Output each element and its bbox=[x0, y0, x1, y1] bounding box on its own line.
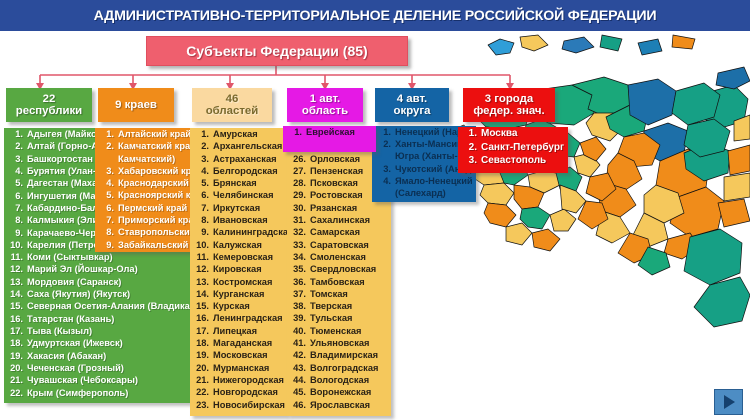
list-item-label: Кемеровская bbox=[213, 251, 273, 263]
category-autonomous-oblast-line2: область bbox=[302, 105, 348, 117]
list-item-label: Краснодарский край bbox=[118, 177, 195, 189]
list-item-label: Чувашская (Чебоксары) bbox=[27, 374, 138, 386]
list-item-label: Калининградская bbox=[213, 226, 287, 238]
list-item-label: Ивановская bbox=[213, 214, 268, 226]
list-item: 23.Новосибирская bbox=[190, 399, 287, 411]
list-item: 20.Чеченская (Грозный) bbox=[4, 362, 190, 374]
list-item-label: Воронежская bbox=[310, 386, 371, 398]
list-item: 45.Воронежская bbox=[287, 386, 391, 398]
list-item-number: 29. bbox=[291, 189, 306, 201]
list-item-number: 6. bbox=[194, 189, 209, 201]
category-autonomous-okrugs-line1: 4 авт. bbox=[397, 93, 427, 105]
list-item-label: Москва bbox=[481, 127, 517, 141]
list-item-label: Мордовия (Саранск) bbox=[27, 276, 121, 288]
list-item-number: 7. bbox=[194, 202, 209, 214]
list-item-label: Приморский край bbox=[118, 214, 195, 226]
list-item-number: 34. bbox=[291, 251, 306, 263]
list-item-number: 14. bbox=[194, 288, 209, 300]
list-item-label: Камчатский) bbox=[118, 153, 175, 165]
list-item-label: Волгоградская bbox=[310, 362, 378, 374]
list-item-number: 1. bbox=[8, 128, 23, 140]
list-item-number: 31. bbox=[291, 214, 306, 226]
list-item: 2.Архангельская bbox=[190, 140, 287, 152]
list-item-label: Удмуртская (Ижевск) bbox=[27, 337, 123, 349]
category-oblasts-line1: 46 bbox=[226, 93, 239, 105]
list-item-label: Хабаровский край bbox=[118, 165, 195, 177]
list-item-label: Новосибирская bbox=[213, 399, 285, 411]
list-item-label: Сахалинская bbox=[310, 214, 370, 226]
list-item-label: Челябинская bbox=[213, 189, 274, 201]
category-krais-line1: 9 краев bbox=[115, 99, 157, 111]
list-item-number: 10. bbox=[8, 239, 23, 251]
list-item: 13.Костромская bbox=[190, 276, 287, 288]
list-item: Камчатский) bbox=[95, 153, 195, 165]
list-item-label: Архангельская bbox=[213, 140, 282, 152]
list-item-label: Адыгея (Майкоп) bbox=[27, 128, 105, 140]
list-item-label: Северная Осетия-Алания (Владикавказ) bbox=[27, 300, 190, 312]
list-item-number: 19. bbox=[8, 350, 23, 362]
list-item-label: Ставропольский край bbox=[118, 226, 195, 238]
list-oblasts-left[interactable]: 1.Амурская2.Архангельская3.Астраханская4… bbox=[190, 128, 287, 416]
list-item: 22.Новгородская bbox=[190, 386, 287, 398]
list-item-label: Вологодская bbox=[310, 374, 369, 386]
category-box-autonomous-oblast[interactable]: 1 авт. область bbox=[287, 88, 363, 122]
list-item: (Салехард) bbox=[372, 187, 476, 199]
list-item-number: 42. bbox=[291, 349, 306, 361]
list-item-number: 45. bbox=[291, 386, 306, 398]
slide-title-bar: АДМИНИСТРАТИВНО-ТЕРРИТОРИАЛЬНОЕ ДЕЛЕНИЕ … bbox=[0, 0, 750, 31]
list-item-label: Белгородская bbox=[213, 165, 278, 177]
list-item-number: 15. bbox=[8, 300, 23, 312]
list-item: 3.Астраханская bbox=[190, 153, 287, 165]
list-item-label: Чеченская (Грозный) bbox=[27, 362, 124, 374]
list-item-label: Камчатский край bbox=[118, 140, 195, 152]
list-item-number: 46. bbox=[291, 399, 306, 411]
list-item-number: 2. bbox=[462, 141, 477, 155]
list-item-label: Пермский край (Пермь) bbox=[118, 202, 195, 214]
list-item-label: Крым (Симферополь) bbox=[27, 387, 128, 399]
next-slide-button[interactable] bbox=[714, 389, 743, 415]
category-autonomous-oblast-line1: 1 авт. bbox=[310, 93, 340, 105]
list-item-number: 32. bbox=[291, 226, 306, 238]
list-item: 18.Магаданская bbox=[190, 337, 287, 349]
list-item: 3.Севастополь bbox=[458, 154, 568, 168]
list-item-number: 41. bbox=[291, 337, 306, 349]
list-item-number: 12. bbox=[194, 263, 209, 275]
list-item-number: 12. bbox=[8, 263, 23, 275]
list-item-number: 1. bbox=[194, 128, 209, 140]
list-item-label: Тверская bbox=[310, 300, 352, 312]
list-item-label: Липецкая bbox=[213, 325, 257, 337]
list-item-number: 11. bbox=[8, 251, 23, 263]
list-item-label: Курская bbox=[213, 300, 250, 312]
list-item: 1.Алтайский край bbox=[95, 128, 195, 140]
list-item-label: Тамбовская bbox=[310, 276, 365, 288]
list-item: 46.Ярославская bbox=[287, 399, 391, 411]
list-item: 36.Тамбовская bbox=[287, 276, 391, 288]
list-item-label: Алтайский край bbox=[118, 128, 191, 140]
category-federal-cities-line2: федер. знач. bbox=[473, 105, 544, 117]
list-item-number: 39. bbox=[291, 312, 306, 324]
list-item-label: Ростовская bbox=[310, 189, 363, 201]
list-item-number: 18. bbox=[8, 337, 23, 349]
list-item-number: 18. bbox=[194, 337, 209, 349]
list-item: 18.Удмуртская (Ижевск) bbox=[4, 337, 190, 349]
list-item-label: Курганская bbox=[213, 288, 264, 300]
list-item-number: 4. bbox=[99, 177, 114, 189]
list-item: 15.Курская bbox=[190, 300, 287, 312]
list-item-label: Санкт-Петербург bbox=[481, 141, 564, 155]
list-item-label: Коми (Сыктывкар) bbox=[27, 251, 113, 263]
list-item-label: Рязанская bbox=[310, 202, 357, 214]
list-item: 7.Иркутская bbox=[190, 202, 287, 214]
list-item: 4.Белгородская bbox=[190, 165, 287, 177]
list-item-number: 13. bbox=[8, 276, 23, 288]
list-item: 9.Забайкальский край bbox=[95, 239, 195, 251]
play-arrow-icon bbox=[724, 395, 735, 409]
list-item-number: 16. bbox=[8, 313, 23, 325]
list-item: 38.Тверская bbox=[287, 300, 391, 312]
list-item-number: 5. bbox=[99, 189, 114, 201]
list-item: 12.Кировская bbox=[190, 263, 287, 275]
list-item-label: Кировская bbox=[213, 263, 262, 275]
root-node-subjects[interactable]: Субъекты Федерации (85) bbox=[146, 36, 408, 66]
list-item-number: 2. bbox=[99, 140, 114, 152]
list-item: 6.Пермский край (Пермь) bbox=[95, 202, 195, 214]
list-item-number: 7. bbox=[8, 202, 23, 214]
list-item: 15.Северная Осетия-Алания (Владикавказ) bbox=[4, 300, 190, 312]
list-item-number: 17. bbox=[8, 325, 23, 337]
category-box-federal-cities[interactable]: 3 города федер. знач. bbox=[463, 88, 555, 122]
list-item-number: 6. bbox=[99, 202, 114, 214]
federal-cities-list: 1.Москва2.Санкт-Петербург3.Севастополь bbox=[458, 127, 568, 168]
list-item: 14.Курганская bbox=[190, 288, 287, 300]
list-item: 33.Саратовская bbox=[287, 239, 391, 251]
list-item: 1.Еврейская bbox=[283, 126, 376, 138]
list-item-number: 43. bbox=[291, 362, 306, 374]
list-item: 42.Владимирская bbox=[287, 349, 391, 361]
list-item: 3.Хабаровский край bbox=[95, 165, 195, 177]
list-item-number: 35. bbox=[291, 263, 306, 275]
list-item: 34.Смоленская bbox=[287, 251, 391, 263]
autonomous-oblast-list: 1.Еврейская bbox=[283, 126, 376, 138]
list-item-label: Саха (Якутия) (Якутск) bbox=[27, 288, 130, 300]
list-item-number: 11. bbox=[194, 251, 209, 263]
list-item-number: 1. bbox=[462, 127, 477, 141]
category-box-autonomous-okrugs[interactable]: 4 авт. округа bbox=[375, 88, 449, 122]
list-item: 20.Мурманская bbox=[190, 362, 287, 374]
list-item-number: 3. bbox=[99, 165, 114, 177]
list-item: 16.Татарстан (Казань) bbox=[4, 313, 190, 325]
list-item-label: Свердловская bbox=[310, 263, 376, 275]
list-item: 1.Москва bbox=[458, 127, 568, 141]
list-item-number: 19. bbox=[194, 349, 209, 361]
list-item-number: 23. bbox=[194, 399, 209, 411]
list-item-number: 38. bbox=[291, 300, 306, 312]
list-item-number: 15. bbox=[194, 300, 209, 312]
list-item-label: Красноярский край bbox=[118, 189, 195, 201]
list-item-number: 22. bbox=[8, 387, 23, 399]
list-item-label: Мурманская bbox=[213, 362, 269, 374]
list-item-number: 1. bbox=[99, 128, 114, 140]
list-item: 2.Камчатский край bbox=[95, 140, 195, 152]
list-item: 43.Волгоградская bbox=[287, 362, 391, 374]
list-item-number: 8. bbox=[8, 214, 23, 226]
list-item-label: Ленинградская bbox=[213, 312, 283, 324]
list-item-number: 30. bbox=[291, 202, 306, 214]
list-item: 2.Санкт-Петербург bbox=[458, 141, 568, 155]
list-item: 14.Саха (Якутия) (Якутск) bbox=[4, 288, 190, 300]
list-item-number: 9. bbox=[194, 226, 209, 238]
category-box-krais[interactable]: 9 краев bbox=[98, 88, 174, 122]
list-item-number: 37. bbox=[291, 288, 306, 300]
list-item: 13.Мордовия (Саранск) bbox=[4, 276, 190, 288]
list-item-label: Севастополь bbox=[481, 154, 546, 168]
list-item: 32.Самарская bbox=[287, 226, 391, 238]
list-item-number: 20. bbox=[8, 362, 23, 374]
list-item-number: 5. bbox=[8, 177, 23, 189]
list-item-label: Тюменская bbox=[310, 325, 361, 337]
list-item-label: Магаданская bbox=[213, 337, 272, 349]
list-item: 12.Марий Эл (Йошкар-Ола) bbox=[4, 263, 190, 275]
list-item-label: Саратовская bbox=[310, 239, 369, 251]
list-item-number: 26. bbox=[291, 153, 306, 165]
list-item: 41.Ульяновская bbox=[287, 337, 391, 349]
list-item-label: Амурская bbox=[213, 128, 258, 140]
list-item: 4.Ямало-Ненецкий bbox=[372, 175, 476, 187]
slide-root: АДМИНИСТРАТИВНО-ТЕРРИТОРИАЛЬНОЕ ДЕЛЕНИЕ … bbox=[0, 0, 750, 420]
list-item-label: Забайкальский край bbox=[118, 239, 195, 251]
list-item-label: Еврейская bbox=[306, 126, 355, 138]
list-item-number: 7. bbox=[99, 214, 114, 226]
list-item-label: Калужская bbox=[213, 239, 262, 251]
list-item-number: 21. bbox=[194, 374, 209, 386]
list-item-number: 3. bbox=[8, 153, 23, 165]
list-item-number: 17. bbox=[194, 325, 209, 337]
list-item: 8.Ставропольский край bbox=[95, 226, 195, 238]
list-item-number: 6. bbox=[8, 190, 23, 202]
list-item-number: 3. bbox=[376, 163, 391, 175]
list-item-label: Московская bbox=[213, 349, 268, 361]
list-item-label: Псковская bbox=[310, 177, 358, 189]
category-republics-line1: 22 bbox=[43, 93, 56, 105]
page-title: АДМИНИСТРАТИВНО-ТЕРРИТОРИАЛЬНОЕ ДЕЛЕНИЕ … bbox=[94, 8, 657, 24]
list-krais[interactable]: 1.Алтайский край2.Камчатский крайКамчатс… bbox=[95, 128, 195, 252]
list-item-number: 13. bbox=[194, 276, 209, 288]
list-item-number: 8. bbox=[99, 226, 114, 238]
list-item: 1.Амурская bbox=[190, 128, 287, 140]
list-item-label: Ярославская bbox=[310, 399, 370, 411]
list-item: 10.Калужская bbox=[190, 239, 287, 251]
list-item-label: Самарская bbox=[310, 226, 360, 238]
list-item-number: 3. bbox=[462, 154, 477, 168]
list-item-label: Ямало-Ненецкий bbox=[395, 175, 473, 187]
list-item-label: Брянская bbox=[213, 177, 257, 189]
list-item-number: 4. bbox=[8, 165, 23, 177]
category-oblasts-line2: областей bbox=[206, 105, 259, 117]
list-item-number: 2. bbox=[194, 140, 209, 152]
list-item-label: Иркутская bbox=[213, 202, 260, 214]
list-item-number: 4. bbox=[376, 175, 391, 187]
list-item-label: Новгородская bbox=[213, 386, 278, 398]
krais-list: 1.Алтайский край2.Камчатский крайКамчатс… bbox=[95, 128, 195, 251]
list-item-label: Тыва (Кызыл) bbox=[27, 325, 92, 337]
list-item-label: Орловская bbox=[310, 153, 360, 165]
list-item: 7.Приморский край bbox=[95, 214, 195, 226]
list-item-number: 3. bbox=[194, 153, 209, 165]
list-item-number: 16. bbox=[194, 312, 209, 324]
category-autonomous-okrugs-line2: округа bbox=[394, 105, 431, 117]
list-item-number: 2. bbox=[8, 140, 23, 152]
list-item: 22.Крым (Симферополь) bbox=[4, 387, 190, 399]
list-item: 21.Чувашская (Чебоксары) bbox=[4, 374, 190, 386]
list-item-number: 9. bbox=[8, 227, 23, 239]
list-item: 44.Вологодская bbox=[287, 374, 391, 386]
category-box-republics[interactable]: 22 республики bbox=[6, 88, 92, 122]
list-item-label: Нижегородская bbox=[213, 374, 284, 386]
category-box-oblasts[interactable]: 46 областей bbox=[192, 88, 272, 122]
list-item: 37.Томская bbox=[287, 288, 391, 300]
list-item: 19.Хакасия (Абакан) bbox=[4, 350, 190, 362]
list-item-number: 36. bbox=[291, 276, 306, 288]
list-item: 30.Рязанская bbox=[287, 202, 391, 214]
category-federal-cities-line1: 3 города bbox=[485, 93, 533, 105]
list-item-label: Томская bbox=[310, 288, 348, 300]
list-federal-cities[interactable]: 1.Москва2.Санкт-Петербург3.Севастополь bbox=[458, 127, 568, 173]
list-item-number: 2. bbox=[376, 138, 391, 150]
root-node-label: Субъекты Федерации (85) bbox=[186, 43, 367, 59]
list-item-label: Владимирская bbox=[310, 349, 378, 361]
list-item: 5.Красноярский край bbox=[95, 189, 195, 201]
list-item: 31.Сахалинская bbox=[287, 214, 391, 226]
list-item-label: Хакасия (Абакан) bbox=[27, 350, 106, 362]
list-item: 17.Липецкая bbox=[190, 325, 287, 337]
list-item-label: Астраханская bbox=[213, 153, 277, 165]
list-item-label: Пензенская bbox=[310, 165, 363, 177]
list-item-number: 28. bbox=[291, 177, 306, 189]
list-item: 9.Калининградская bbox=[190, 226, 287, 238]
list-item-number: 44. bbox=[291, 374, 306, 386]
list-item-number: 22. bbox=[194, 386, 209, 398]
list-item-label: Тульская bbox=[310, 312, 352, 324]
list-item-number: 1. bbox=[287, 126, 302, 138]
list-item: 6.Челябинская bbox=[190, 189, 287, 201]
list-item-number: 20. bbox=[194, 362, 209, 374]
list-item-number: 10. bbox=[194, 239, 209, 251]
list-item: 21.Нижегородская bbox=[190, 374, 287, 386]
list-item-label: (Салехард) bbox=[395, 187, 446, 199]
category-republics-line2: республики bbox=[16, 105, 82, 117]
list-item-label: Татарстан (Казань) bbox=[27, 313, 114, 325]
list-item-number: 14. bbox=[8, 288, 23, 300]
list-item: 5.Брянская bbox=[190, 177, 287, 189]
oblasts-left-list: 1.Амурская2.Архангельская3.Астраханская4… bbox=[190, 128, 287, 411]
list-item: 11.Кемеровская bbox=[190, 251, 287, 263]
list-item: 39.Тульская bbox=[287, 312, 391, 324]
list-item-label: Ульяновская bbox=[310, 337, 369, 349]
list-item-label: Костромская bbox=[213, 276, 272, 288]
list-item-number: 40. bbox=[291, 325, 306, 337]
list-item: 40.Тюменская bbox=[287, 325, 391, 337]
list-item: 17.Тыва (Кызыл) bbox=[4, 325, 190, 337]
list-item-number: 33. bbox=[291, 239, 306, 251]
list-item-label: Марий Эл (Йошкар-Ола) bbox=[27, 263, 138, 275]
list-item: 16.Ленинградская bbox=[190, 312, 287, 324]
list-item-number: 1. bbox=[376, 126, 391, 138]
list-autonomous-oblast[interactable]: 1.Еврейская bbox=[283, 126, 376, 152]
list-item: 11.Коми (Сыктывкар) bbox=[4, 251, 190, 263]
list-item-label: Смоленская bbox=[310, 251, 366, 263]
list-item-number: 9. bbox=[99, 239, 114, 251]
list-item-number: 21. bbox=[8, 374, 23, 386]
list-item-number: 8. bbox=[194, 214, 209, 226]
list-item: 19.Московская bbox=[190, 349, 287, 361]
list-item: 8.Ивановская bbox=[190, 214, 287, 226]
list-item-number: 4. bbox=[194, 165, 209, 177]
list-item-number: 27. bbox=[291, 165, 306, 177]
list-item-number: 5. bbox=[194, 177, 209, 189]
list-item: 4.Краснодарский край bbox=[95, 177, 195, 189]
list-item: 35.Свердловская bbox=[287, 263, 391, 275]
